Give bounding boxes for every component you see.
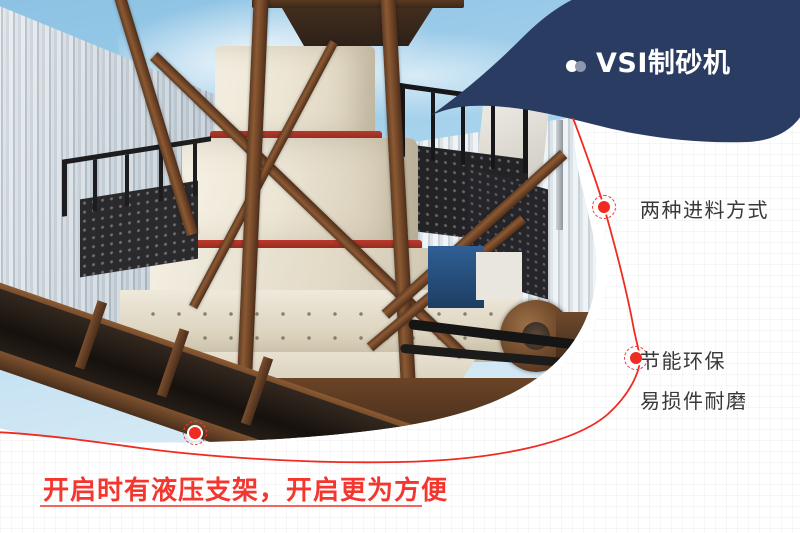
feature-label-wear: 易损件耐磨 [640, 385, 748, 414]
marker-core-icon [598, 201, 610, 213]
feature-label-energy: 节能环保 [640, 345, 726, 374]
poster-canvas: VSI制砂机 两种进料方式 节能环保 易损件耐磨 开启时有液压支架，开启更为方便 [0, 0, 800, 533]
white-equipment-box [476, 252, 522, 300]
feature-label-feeding: 两种进料方式 [640, 194, 769, 223]
page-title: VSI制砂机 [596, 41, 730, 80]
marker-dot-feeding[interactable] [592, 195, 616, 219]
marker-core-icon [189, 427, 201, 439]
caption-text: 开启时有液压支架，开启更为方便 [43, 470, 448, 507]
marker-dot-caption[interactable] [183, 421, 207, 445]
header-bullet-icon [566, 60, 588, 72]
caption-underline [40, 505, 422, 507]
bullet-circle-gray-icon [575, 61, 586, 72]
